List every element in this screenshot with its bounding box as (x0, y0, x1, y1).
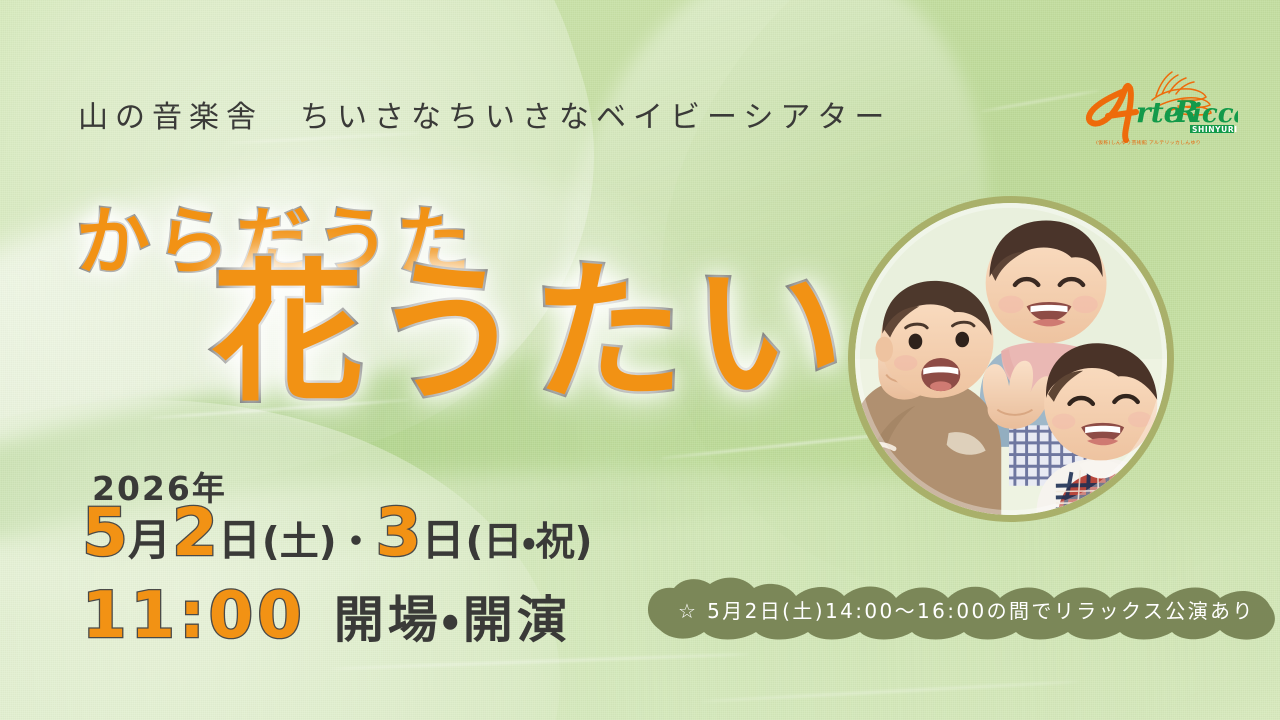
babies-photo (848, 196, 1174, 522)
date-day1-kanji: 日 (218, 520, 262, 563)
babies-photo-illustration (855, 203, 1167, 515)
date-month-number: 5 (82, 500, 128, 566)
relax-performance-note: ☆ 5月2日(土)14:00〜16:00の間でリラックス公演あり (678, 576, 1255, 642)
date-separator: ・ (337, 523, 376, 562)
event-time-value: 11:00 (82, 584, 306, 648)
date-day2-number: 3 (376, 500, 422, 566)
logo-graphic: rte R icca SHINYURI (1078, 62, 1238, 148)
date-day1-number: 2 (172, 500, 218, 566)
event-time-label: 開場・開演 (334, 595, 571, 645)
event-time-row: 11:00 開場・開演 (82, 584, 571, 648)
title-hanautai: 花うたい (212, 258, 852, 410)
logo-subtitle: (仮称)しんゆり芸術館 アルテリッカしんゆり (1096, 139, 1201, 145)
svg-text:SHINYURI: SHINYURI (1192, 125, 1238, 134)
date-day2-weekday: (日・祝) (465, 523, 592, 562)
arteric ca-logo: rte R icca SHINYURI (仮称)しんゆり芸術館 アルテリッカしん… (1078, 62, 1238, 148)
poster-canvas: 山の音楽舎 ちいさなちいさなベイビーシアター rte R (0, 0, 1280, 720)
event-date-row: 5 月 2 日 (土) ・ 3 日 (日・祝) (82, 500, 592, 566)
date-day1-weekday: (土) (262, 523, 337, 562)
date-month-kanji: 月 (128, 520, 172, 563)
relax-performance-banner: ☆ 5月2日(土)14:00〜16:00の間でリラックス公演あり (648, 576, 1280, 642)
header-subtitle: 山の音楽舎 ちいさなちいさなベイビーシアター (78, 92, 891, 136)
date-day2-kanji: 日 (421, 520, 465, 563)
